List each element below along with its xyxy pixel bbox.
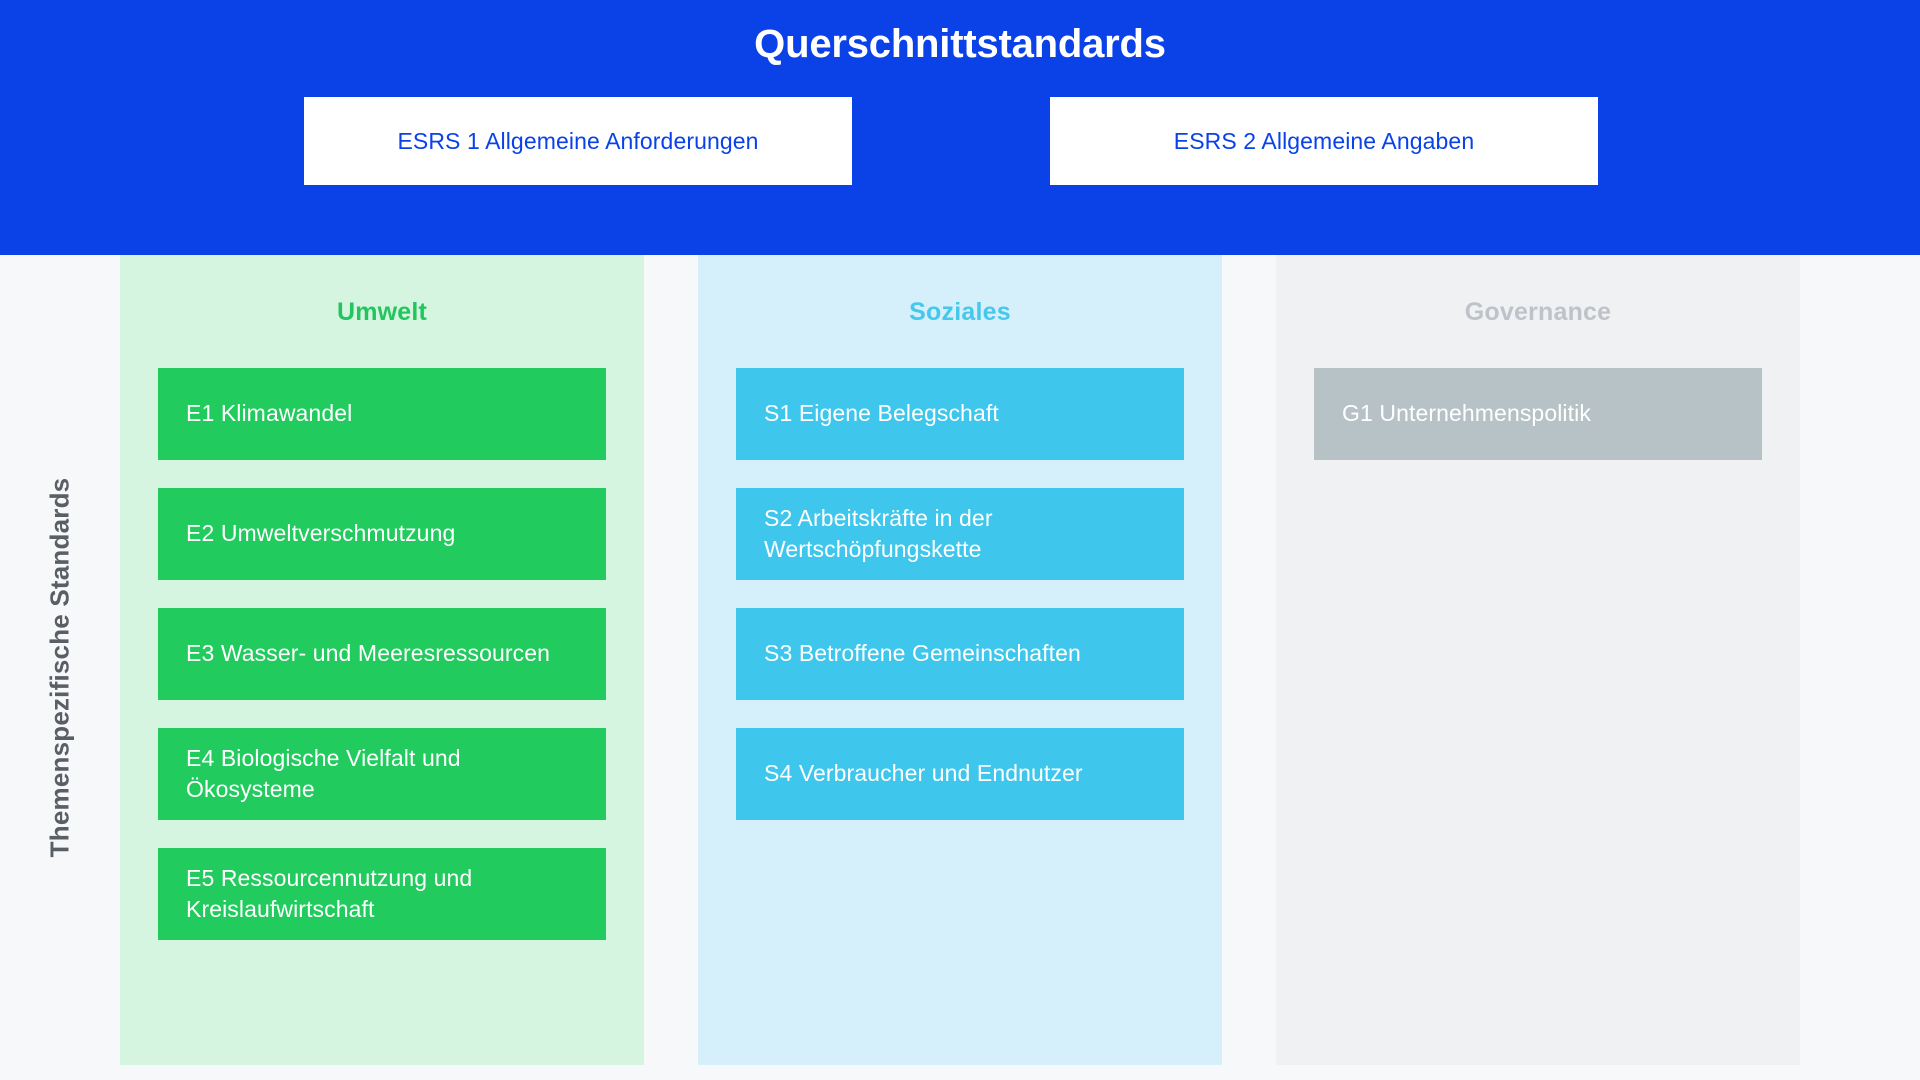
standard-item-s2[interactable]: S2 Arbeitskräfte in der Wertschöpfungske… (736, 488, 1184, 580)
standard-item-s3[interactable]: S3 Betroffene Gemeinschaften (736, 608, 1184, 700)
crosscutting-standards-cards: ESRS 1 Allgemeine Anforderungen ESRS 2 A… (0, 97, 1920, 185)
column-governance: Governance G1 Unternehmenspolitik (1276, 255, 1800, 1065)
column-title-governance: Governance (1314, 298, 1762, 327)
topical-standards-axis-label: Themenspezifische Standards (0, 255, 120, 1080)
standards-columns: Umwelt E1 Klimawandel E2 Umweltverschmut… (120, 255, 1920, 1080)
standard-item-g1[interactable]: G1 Unternehmenspolitik (1314, 368, 1762, 460)
esrs-2-card[interactable]: ESRS 2 Allgemeine Angaben (1050, 97, 1598, 185)
axis-label-text: Themenspezifische Standards (45, 478, 76, 858)
standard-item-e2[interactable]: E2 Umweltverschmutzung (158, 488, 606, 580)
item-list-governance: G1 Unternehmenspolitik (1314, 368, 1762, 460)
standard-item-s1[interactable]: S1 Eigene Belegschaft (736, 368, 1184, 460)
item-list-umwelt: E1 Klimawandel E2 Umweltverschmutzung E3… (158, 368, 606, 940)
esrs-1-card[interactable]: ESRS 1 Allgemeine Anforderungen (304, 97, 852, 185)
item-list-soziales: S1 Eigene Belegschaft S2 Arbeitskräfte i… (736, 368, 1184, 820)
column-title-umwelt: Umwelt (158, 298, 606, 327)
column-soziales: Soziales S1 Eigene Belegschaft S2 Arbeit… (698, 255, 1222, 1065)
topical-standards-area: Themenspezifische Standards Umwelt E1 Kl… (0, 255, 1920, 1080)
standard-item-s4[interactable]: S4 Verbraucher und Endnutzer (736, 728, 1184, 820)
standard-item-e1[interactable]: E1 Klimawandel (158, 368, 606, 460)
crosscutting-standards-header: Querschnittstandards ESRS 1 Allgemeine A… (0, 0, 1920, 255)
standard-item-e4[interactable]: E4 Biologische Vielfalt und Ökosysteme (158, 728, 606, 820)
standard-item-e5[interactable]: E5 Ressourcennutzung und Kreislaufwirtsc… (158, 848, 606, 940)
column-title-soziales: Soziales (736, 298, 1184, 327)
standard-item-e3[interactable]: E3 Wasser- und Meeresressourcen (158, 608, 606, 700)
column-umwelt: Umwelt E1 Klimawandel E2 Umweltverschmut… (120, 255, 644, 1065)
esrs-standards-diagram: Querschnittstandards ESRS 1 Allgemeine A… (0, 0, 1920, 1080)
page-title: Querschnittstandards (754, 20, 1166, 68)
